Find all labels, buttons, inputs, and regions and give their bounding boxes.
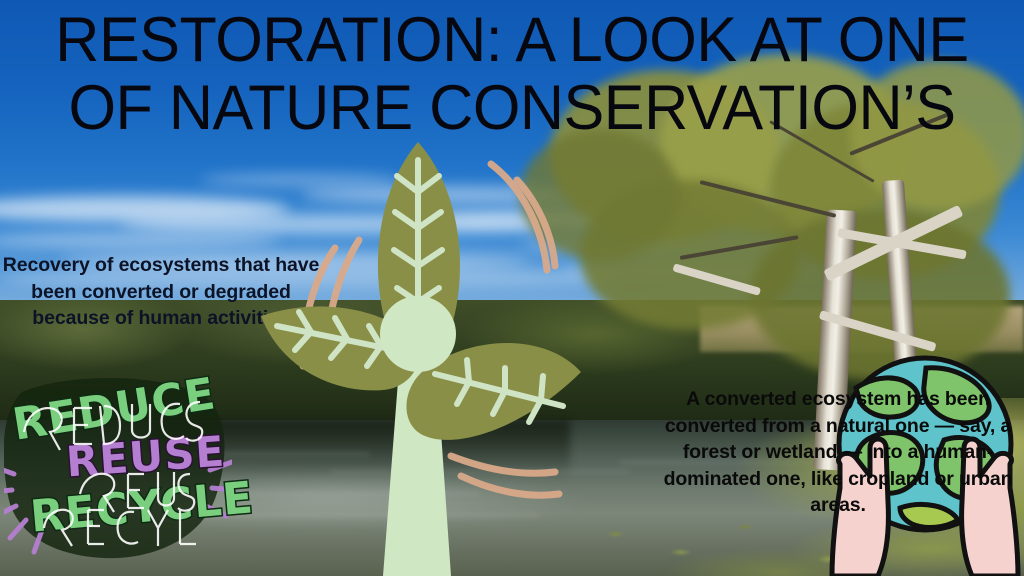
turbine-hub	[380, 296, 456, 372]
reduce-reuse-recycle-sticker: REDUCE REUSE RECYCLE	[4, 378, 232, 562]
wind-turbine-graphic	[255, 120, 585, 576]
right-description-text: A converted ecosystem has been converted…	[662, 386, 1014, 519]
poster-canvas: RESTORATION: A LOOK AT ONE OF NATURE CON…	[0, 0, 1024, 576]
